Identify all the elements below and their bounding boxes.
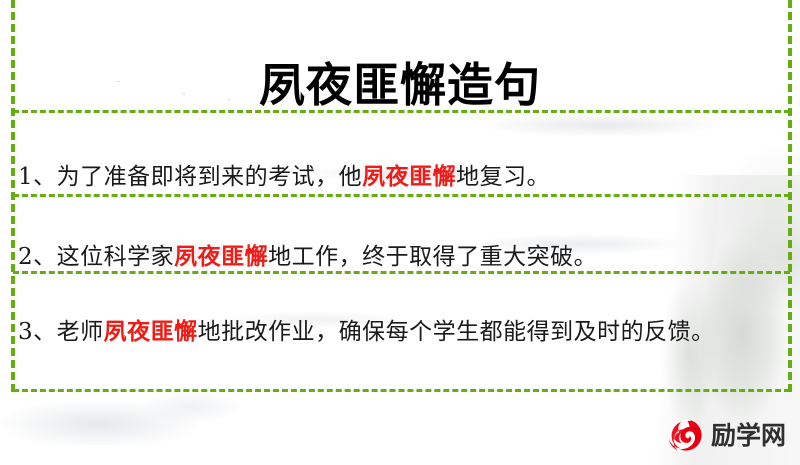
sentence-index-3: 3、	[18, 319, 57, 345]
logo-text: 励学网	[711, 423, 786, 448]
separator-below-sentence-3	[13, 389, 790, 392]
flame-swirl-icon	[668, 417, 704, 453]
idiom-highlight-1: 夙夜匪懈	[362, 163, 456, 190]
idiom-highlight-2: 夙夜匪懈	[174, 243, 268, 270]
watermark-hill-bottom	[0, 350, 330, 445]
page-title: 夙夜匪懈造句	[0, 57, 800, 115]
sentence-text-before-1: 为了准备即将到来的考试，他	[57, 164, 363, 190]
sentence-text-after-1: 地复习。	[456, 164, 550, 190]
sentence-text-after-2: 地工作，终于取得了重大突破。	[268, 244, 597, 270]
page-root: ˜ ˜ ˜ ˜ ˜ 夙夜匪懈造句 1、为了准备即将到来的考试，他夙夜匪懈地复习。…	[0, 0, 800, 465]
sentence-item-2: 2、这位科学家夙夜匪懈地工作，终于取得了重大突破。	[18, 236, 778, 278]
sentence-text-after-3: 地批改作业，确保每个学生都能得到及时的反馈。	[198, 319, 715, 345]
sentence-text-before-3: 老师	[57, 319, 104, 345]
sentence-index-2: 2、	[18, 244, 57, 270]
sentence-item-1: 1、为了准备即将到来的考试，他夙夜匪懈地复习。	[18, 156, 778, 198]
site-logo[interactable]: 励学网	[668, 415, 786, 455]
idiom-highlight-3: 夙夜匪懈	[104, 318, 198, 345]
sentence-index-1: 1、	[18, 164, 57, 190]
sentence-item-3: 3、老师夙夜匪懈地批改作业，确保每个学生都能得到及时的反馈。	[18, 311, 778, 353]
sentence-text-before-2: 这位科学家	[57, 244, 175, 270]
